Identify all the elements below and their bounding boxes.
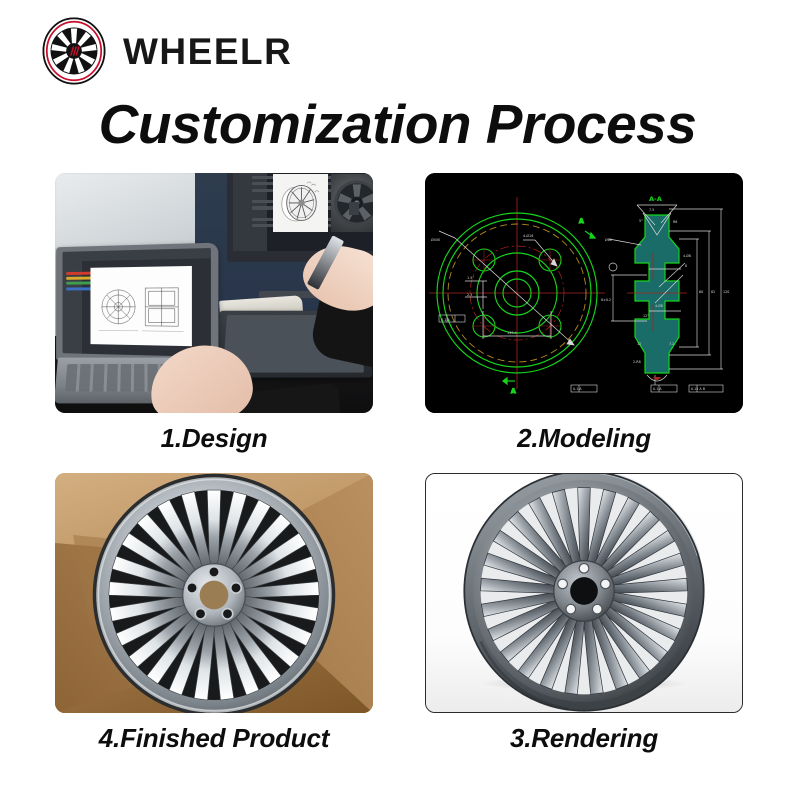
svg-text:A: A [579,218,584,225]
svg-text:Ø400: Ø400 [431,237,440,242]
page-title: Customization Process [0,96,787,154]
cad-canvas [90,265,192,345]
svg-text:82: 82 [711,290,715,294]
modeling-cad-drawing: Ø400 4-Ø16 1.5° 2.5 139.4 0.1 A A [425,173,743,413]
process-grid: 1.Design [0,168,787,778]
step-caption-rendering: 3.Rendering [425,723,743,754]
process-step-modeling[interactable]: Ø400 4-Ø16 1.5° 2.5 139.4 0.1 A A [425,173,743,454]
process-step-finished-product[interactable]: 4.Finished Product [55,473,373,754]
svg-text:12: 12 [637,342,641,346]
section-label: A-A [649,195,662,203]
svg-text:R6: R6 [673,220,677,224]
svg-text:2-R8: 2-R8 [633,360,641,364]
svg-text:7.5: 7.5 [649,208,654,212]
svg-text:0.1 A: 0.1 A [573,387,582,391]
wheel-rim-logo-icon [40,17,108,85]
rendered-wheel [458,474,710,712]
svg-text:A: A [511,388,516,395]
svg-text:8±0.2: 8±0.2 [601,298,611,302]
svg-text:7.2: 7.2 [669,342,674,346]
svg-text:12°: 12° [643,314,649,318]
finished-product-photo [55,473,373,713]
svg-text:120: 120 [723,290,729,294]
svg-text:2.5: 2.5 [467,293,472,297]
page-header: WHEELR [0,0,787,95]
brand-logo: WHEELR [40,17,292,85]
svg-text:4-Ø8: 4-Ø8 [683,253,691,258]
svg-text:139.4: 139.4 [507,331,517,335]
process-step-rendering[interactable]: 3.Rendering [425,473,743,754]
design-photo [55,173,373,413]
step-caption-modeling: 2.Modeling [425,423,743,454]
svg-text:1.5°: 1.5° [467,276,474,280]
svg-text:0.1 A: 0.1 A [441,318,450,322]
svg-text:5°: 5° [639,219,643,223]
svg-text:8: 8 [685,264,687,268]
chrome-wheel [89,473,339,713]
svg-text:0.15 A B: 0.15 A B [691,387,706,391]
svg-text:Ø60: Ø60 [605,237,612,242]
step-caption-design: 1.Design [55,423,373,454]
wheel-sketch-thumbnail [273,174,328,232]
rendering-image [425,473,743,713]
brand-name: WHEELR [123,33,292,70]
svg-text:0.1 A: 0.1 A [653,387,662,391]
svg-text:4-Ø16: 4-Ø16 [523,233,533,238]
svg-text:4-Ø8: 4-Ø8 [655,303,663,308]
svg-text:60: 60 [699,290,703,294]
process-step-design[interactable]: 1.Design [55,173,373,454]
step-caption-finished-product: 4.Finished Product [55,723,373,754]
